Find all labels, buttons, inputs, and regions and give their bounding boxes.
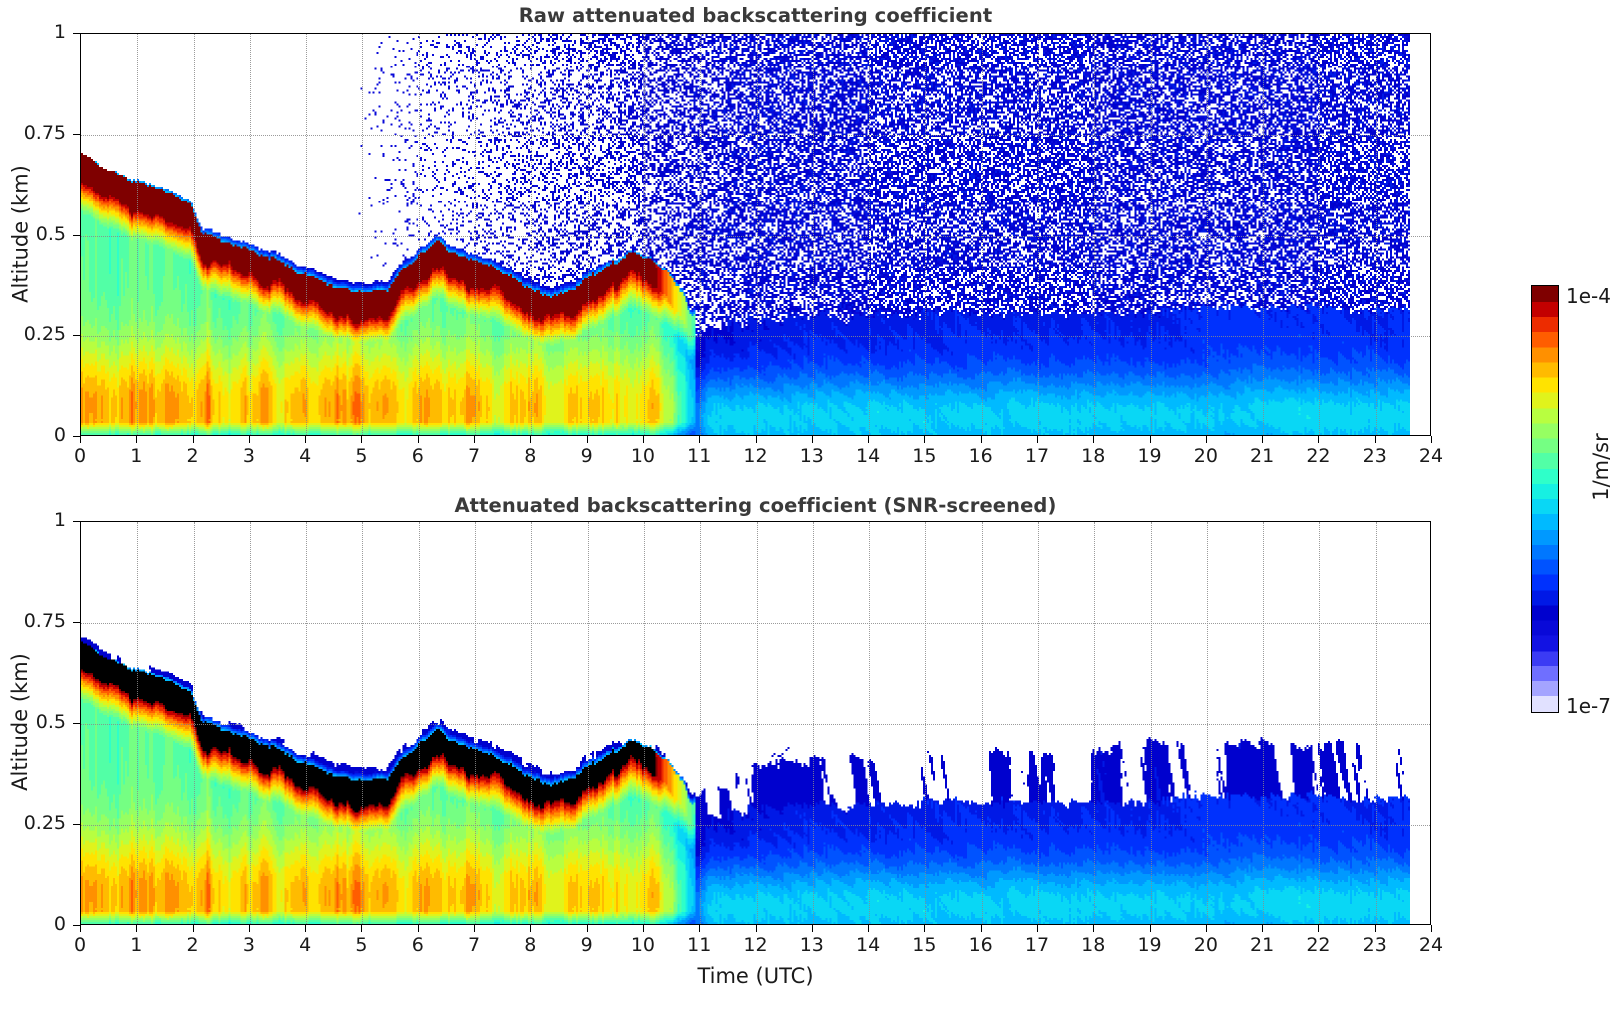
x-tick-label: 5 [331, 445, 391, 467]
x-tick-mark [981, 925, 982, 932]
x-tick-label: 18 [1063, 445, 1123, 467]
x-tick-mark [812, 925, 813, 932]
x-tick-mark [868, 436, 869, 443]
y-tick-mark [73, 33, 80, 34]
x-tick-label: 7 [444, 934, 504, 956]
heatmap-screened [81, 522, 1430, 924]
x-tick-mark [756, 436, 757, 443]
x-tick-mark [924, 436, 925, 443]
x-tick-label: 0 [50, 445, 110, 467]
x-tick-label: 5 [331, 934, 391, 956]
x-tick-mark [643, 436, 644, 443]
x-tick-mark [1262, 925, 1263, 932]
x-tick-label: 23 [1345, 445, 1405, 467]
x-tick-label: 22 [1288, 445, 1348, 467]
x-tick-label: 15 [894, 445, 954, 467]
x-tick-label: 20 [1176, 934, 1236, 956]
y-tick-mark [73, 925, 80, 926]
x-tick-label: 16 [951, 445, 1011, 467]
x-tick-label: 6 [388, 934, 448, 956]
x-tick-mark [1150, 436, 1151, 443]
x-tick-mark [1093, 436, 1094, 443]
x-tick-mark [530, 436, 531, 443]
x-tick-label: 10 [613, 445, 673, 467]
x-tick-mark [80, 436, 81, 443]
x-tick-label: 3 [219, 934, 279, 956]
x-tick-mark [474, 925, 475, 932]
x-tick-label: 4 [275, 934, 335, 956]
x-tick-label: 16 [951, 934, 1011, 956]
y-tick-mark [73, 335, 80, 336]
x-tick-mark [193, 436, 194, 443]
x-tick-mark [418, 436, 419, 443]
plot-area-raw[interactable] [80, 33, 1431, 436]
x-tick-label: 1 [106, 934, 166, 956]
x-tick-label: 1 [106, 445, 166, 467]
x-tick-label: 11 [669, 445, 729, 467]
x-tick-mark [530, 925, 531, 932]
y-tick-mark [73, 622, 80, 623]
x-tick-label: 9 [557, 934, 617, 956]
x-tick-mark [361, 436, 362, 443]
colorbar-gradient [1531, 285, 1559, 713]
x-tick-label: 11 [669, 934, 729, 956]
x-tick-mark [418, 925, 419, 932]
x-tick-label: 12 [726, 445, 786, 467]
x-tick-label: 18 [1063, 934, 1123, 956]
x-tick-label: 22 [1288, 934, 1348, 956]
x-tick-label: 8 [500, 445, 560, 467]
y-tick-mark [73, 436, 80, 437]
x-tick-mark [1431, 925, 1432, 932]
x-tick-label: 7 [444, 445, 504, 467]
y-tick-mark [73, 235, 80, 236]
panel-title-screened: Attenuated backscattering coefficient (S… [80, 494, 1431, 517]
x-tick-mark [305, 925, 306, 932]
x-tick-label: 24 [1401, 934, 1461, 956]
x-tick-mark [1206, 925, 1207, 932]
x-tick-mark [1375, 436, 1376, 443]
y-axis-label-raw: Altitude (km) [8, 32, 32, 435]
x-tick-label: 9 [557, 445, 617, 467]
x-tick-label: 0 [50, 934, 110, 956]
x-tick-mark [249, 436, 250, 443]
x-tick-mark [812, 436, 813, 443]
x-tick-mark [136, 925, 137, 932]
x-tick-mark [981, 436, 982, 443]
colorbar-max-label: 1e-4 [1566, 284, 1611, 308]
x-tick-mark [1206, 436, 1207, 443]
x-tick-label: 2 [163, 445, 223, 467]
x-tick-mark [1037, 436, 1038, 443]
x-tick-label: 17 [1007, 445, 1067, 467]
x-tick-label: 14 [838, 445, 898, 467]
colorbar[interactable] [1531, 285, 1559, 713]
x-tick-mark [136, 436, 137, 443]
y-tick-mark [73, 723, 80, 724]
x-tick-mark [305, 436, 306, 443]
x-tick-label: 14 [838, 934, 898, 956]
x-tick-mark [1375, 925, 1376, 932]
x-tick-label: 24 [1401, 445, 1461, 467]
x-tick-mark [249, 925, 250, 932]
x-tick-label: 13 [782, 445, 842, 467]
colorbar-unit-label: 1/m/sr [1589, 407, 1613, 527]
x-tick-label: 20 [1176, 445, 1236, 467]
x-tick-label: 8 [500, 934, 560, 956]
x-tick-mark [699, 925, 700, 932]
x-axis-label: Time (UTC) [80, 964, 1431, 988]
x-tick-mark [80, 925, 81, 932]
x-tick-label: 2 [163, 934, 223, 956]
x-tick-mark [587, 436, 588, 443]
heatmap-raw [81, 34, 1430, 435]
x-tick-label: 6 [388, 445, 448, 467]
x-tick-label: 23 [1345, 934, 1405, 956]
x-tick-mark [1262, 436, 1263, 443]
panel-title-raw: Raw attenuated backscattering coefficien… [80, 4, 1431, 27]
x-tick-label: 21 [1232, 934, 1292, 956]
y-tick-mark [73, 521, 80, 522]
x-tick-mark [924, 925, 925, 932]
x-tick-label: 21 [1232, 445, 1292, 467]
x-tick-mark [1318, 925, 1319, 932]
y-axis-label-screened: Altitude (km) [8, 520, 32, 924]
x-tick-mark [756, 925, 757, 932]
x-tick-mark [643, 925, 644, 932]
x-tick-label: 13 [782, 934, 842, 956]
x-tick-label: 15 [894, 934, 954, 956]
x-tick-mark [1431, 436, 1432, 443]
x-tick-label: 19 [1120, 445, 1180, 467]
figure-canvas: Raw attenuated backscattering coefficien… [0, 0, 1621, 1020]
x-tick-label: 10 [613, 934, 673, 956]
colorbar-min-label: 1e-7 [1566, 694, 1611, 718]
x-tick-mark [1037, 925, 1038, 932]
x-tick-label: 12 [726, 934, 786, 956]
x-tick-mark [587, 925, 588, 932]
x-tick-mark [1093, 925, 1094, 932]
x-tick-label: 4 [275, 445, 335, 467]
y-tick-mark [73, 824, 80, 825]
x-tick-mark [361, 925, 362, 932]
x-tick-mark [193, 925, 194, 932]
x-tick-mark [1318, 436, 1319, 443]
y-tick-mark [73, 134, 80, 135]
x-tick-mark [1150, 925, 1151, 932]
x-tick-mark [868, 925, 869, 932]
x-tick-mark [474, 436, 475, 443]
x-tick-label: 19 [1120, 934, 1180, 956]
x-tick-mark [699, 436, 700, 443]
x-tick-label: 3 [219, 445, 279, 467]
plot-area-screened[interactable] [80, 521, 1431, 925]
x-tick-label: 17 [1007, 934, 1067, 956]
